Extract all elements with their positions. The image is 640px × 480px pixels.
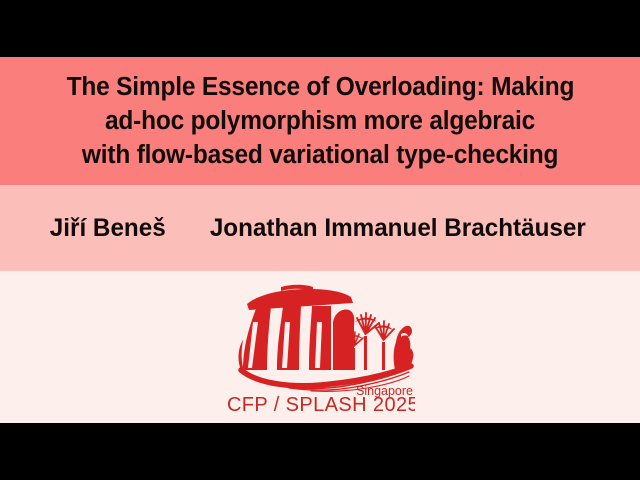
authors-row: Jiří Beneš Jonathan Immanuel Brachtäuser (48, 214, 591, 242)
title-line-3: with flow-based variational type-checkin… (82, 138, 558, 172)
conference-logo: Singapore ICFP / SPLASH 2025 (225, 282, 415, 412)
title-band: The Simple Essence of Overloading: Makin… (0, 57, 640, 185)
letterbox-bottom (0, 423, 640, 480)
authors-band: Jiří Beneš Jonathan Immanuel Brachtäuser (0, 185, 640, 271)
author-name-1: Jiří Beneš (50, 214, 166, 242)
presentation-slide: The Simple Essence of Overloading: Makin… (0, 0, 640, 480)
logo-conference-label: ICFP / SPLASH 2025 (225, 394, 415, 412)
title-line-2: ad-hoc polymorphism more algebraic (105, 104, 535, 138)
author-name-2: Jonathan Immanuel Brachtäuser (210, 214, 586, 242)
letterbox-top (0, 0, 640, 57)
logo-band: Singapore ICFP / SPLASH 2025 (0, 271, 640, 423)
marina-bay-sands-icon (239, 285, 355, 370)
title-line-1: The Simple Essence of Overloading: Makin… (66, 70, 574, 104)
